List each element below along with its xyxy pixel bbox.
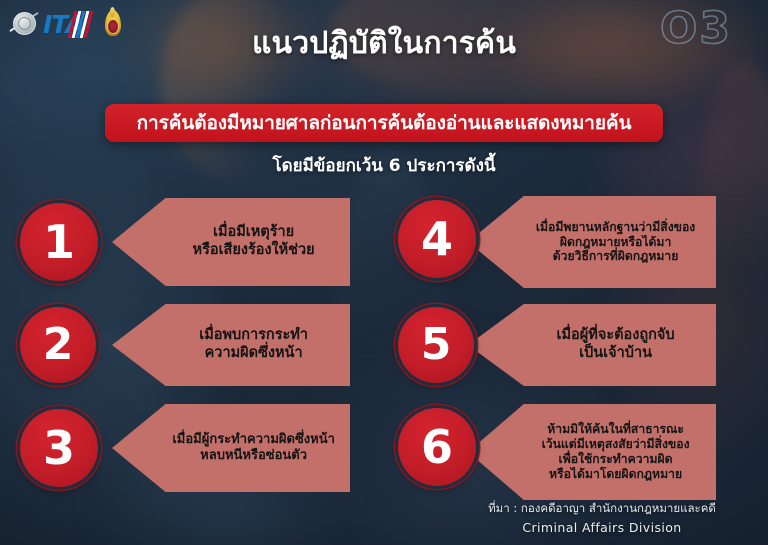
header: ITA แนวปฏิบัติในการค้น O3 [0,0,768,72]
number-badge-value: 2 [43,323,74,367]
chevron-banner-text: เมื่อมีพยานหลักฐานว่ามีสิ่งของผิดกฎหมายห… [484,220,700,265]
slide-number: O3 [660,7,732,51]
source-credit-thai: ที่มา : กองคดีอาญา สำนักงานกฎหมายและคดี [452,500,752,518]
chevron-banner: เมื่อมีผู้กระทำความผิดซึ่งหน้าหลบหนีหรือ… [112,404,350,492]
subtitle: โดยมีข้อยกเว้น 6 ประการดังนี้ [0,152,768,179]
list-item: เมื่อผู้ที่จะต้องถูกจับเป็นเจ้าบ้าน [468,304,716,386]
number-badge-value: 4 [421,216,453,262]
number-badge: 1 [20,203,98,281]
list-item: เมื่อมีผู้กระทำความผิดซึ่งหน้าหลบหนีหรือ… [112,404,350,492]
chevron-banner: เมื่อพบการกระทำความผิดซึ่งหน้า [112,304,350,386]
chevron-banner: ห้ามมิให้ค้นในที่สาธารณะเว้นแต่มีเหตุสงส… [468,404,716,500]
chevron-banner: เมื่อมีเหตุร้ายหรือเสียงร้องให้ช่วย [112,198,350,286]
number-badge: 6 [398,408,476,486]
number-badge-value: 1 [43,219,75,265]
list-item: ห้ามมิให้ค้นในที่สาธารณะเว้นแต่มีเหตุสงส… [468,404,716,500]
chevron-banner-text: เมื่อพบการกระทำความผิดซึ่งหน้า [149,327,312,362]
list-item: เมื่อมีพยานหลักฐานว่ามีสิ่งของผิดกฎหมายห… [468,196,716,288]
chevron-banner: เมื่อผู้ที่จะต้องถูกจับเป็นเจ้าบ้าน [468,304,716,386]
page-title: แนวปฏิบัติในการค้น [0,20,768,67]
number-badge: 5 [398,307,474,383]
chevron-banner-text: เมื่อมีผู้กระทำความผิดซึ่งหน้าหลบหนีหรือ… [122,432,339,464]
source-credit-english: Criminal Affairs Division [452,520,752,535]
number-badge-value: 5 [421,323,452,367]
number-badge: 3 [20,409,98,487]
highlight-banner: การค้นต้องมีหมายศาลก่อนการค้นต้องอ่านและ… [105,104,663,142]
chevron-banner-text: ห้ามมิให้ค้นในที่สาธารณะเว้นแต่มีเหตุสงส… [490,422,695,482]
list-item: เมื่อมีเหตุร้ายหรือเสียงร้องให้ช่วย [112,198,350,286]
highlight-banner-text: การค้นต้องมีหมายศาลก่อนการค้นต้องอ่านและ… [137,108,632,138]
footer: ที่มา : กองคดีอาญา สำนักงานกฎหมายและคดี … [452,500,752,535]
chevron-banner: เมื่อมีพยานหลักฐานว่ามีสิ่งของผิดกฎหมายห… [468,196,716,288]
list-item: เมื่อพบการกระทำความผิดซึ่งหน้า [112,304,350,386]
number-badge-value: 6 [421,424,453,470]
number-badge-value: 3 [43,425,75,471]
chevron-banner-text: เมื่อมีเหตุร้ายหรือเสียงร้องให้ช่วย [143,224,320,259]
number-badge: 2 [20,307,96,383]
chevron-banner-text: เมื่อผู้ที่จะต้องถูกจับเป็นเจ้าบ้าน [504,327,679,362]
number-badge: 4 [398,200,476,278]
